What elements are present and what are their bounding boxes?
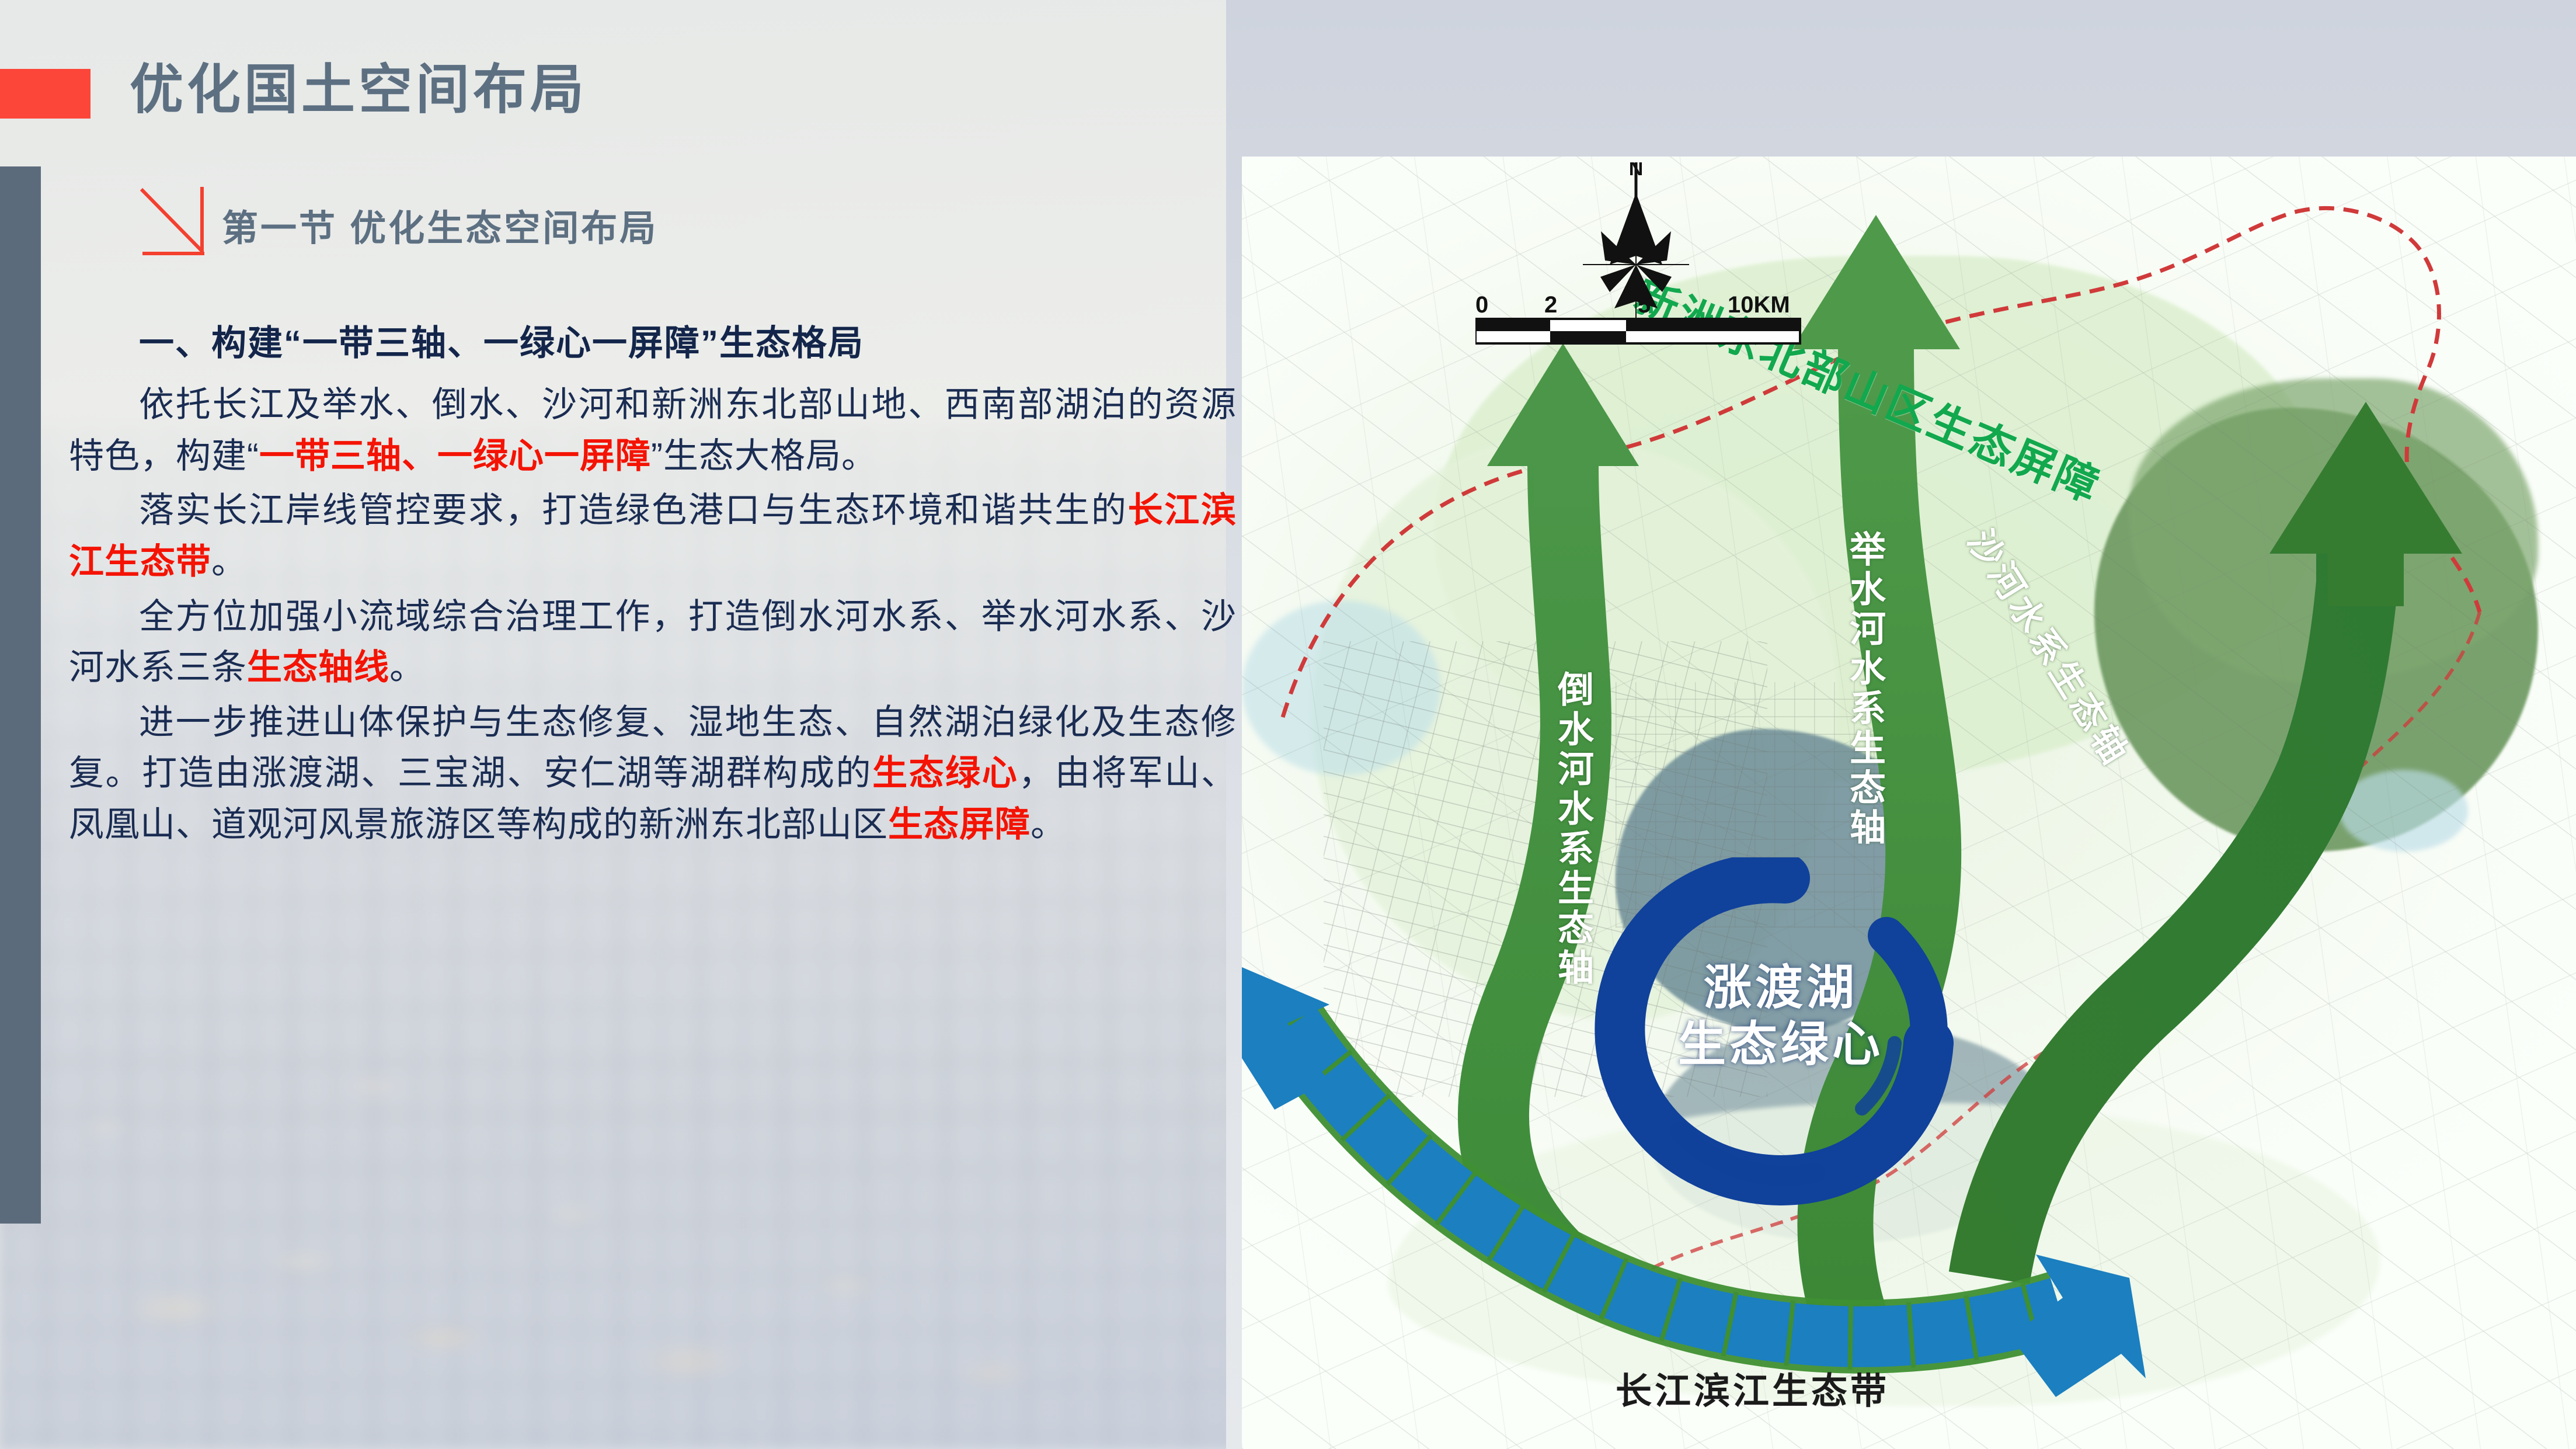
body-run: 。: [211, 542, 247, 581]
axis-label-daoshui: 倒水河水系生态轴: [1545, 670, 1598, 988]
highlighted-term: 一带三轴、一绿心一屏障: [259, 436, 651, 475]
body-run: 全方位加强小流域综合治理工作，打造倒水河水系、举水河水系、沙河水系三条: [69, 597, 1237, 687]
paragraph-4: 进一步推进山体保护与生态修复、湿地生态、自然湖泊绿化及生态修复。打造由涨渡湖、三…: [69, 697, 1237, 850]
highlighted-term: 生态绿心: [872, 753, 1018, 793]
red-down-right-arrow-icon: [139, 186, 232, 262]
page-title: 优化国土空间布局: [130, 63, 587, 117]
body-run: 。: [389, 648, 425, 687]
ecological-structure-map[interactable]: 倒水河水系生态轴 举水河水系生态轴: [1242, 157, 2576, 1449]
slate-side-bar: [0, 166, 41, 1224]
body-run: 。: [1031, 805, 1066, 844]
scale-bar-icon: [1475, 294, 1802, 348]
paragraph-1: 依托长江及举水、倒水、沙河和新洲东北部山地、西南部湖泊的资源特色，构建“一带三轴…: [69, 379, 1237, 481]
slide-root: 优化国土空间布局 第一节 优化生态空间布局 一、构建“一带三轴、一绿心一屏障”生…: [0, 0, 2576, 1449]
map-canvas: 倒水河水系生态轴 举水河水系生态轴: [1242, 157, 2576, 1449]
section-subtitle: 第一节 优化生态空间布局: [222, 199, 658, 251]
red-accent-block: [0, 69, 90, 119]
riverside-belt-label: 长江滨江生态带: [1616, 1361, 1889, 1414]
svg-text:N: N: [1629, 162, 1644, 180]
highlighted-term: 生态屏障: [888, 805, 1031, 844]
section-subtitle-group: 第一节 优化生态空间布局: [139, 186, 1015, 273]
body-run: ”生态大格局。: [651, 436, 877, 475]
lead-heading: 一、构建“一带三轴、一绿心一屏障”生态格局: [69, 320, 1237, 366]
paragraph-3: 全方位加强小流域综合治理工作，打造倒水河水系、举水河水系、沙河水系三条生态轴线。: [69, 591, 1237, 693]
body-run: 落实长江岸线管控要求，打造绿色港口与生态环境和谐共生的: [139, 491, 1128, 530]
body-text-column: 一、构建“一带三轴、一绿心一屏障”生态格局 依托长江及举水、倒水、沙河和新洲东北…: [69, 320, 1237, 854]
paragraph-2: 落实长江岸线管控要求，打造绿色港口与生态环境和谐共生的长江滨江生态带。: [69, 485, 1237, 587]
highlighted-term: 生态轴线: [247, 648, 389, 687]
